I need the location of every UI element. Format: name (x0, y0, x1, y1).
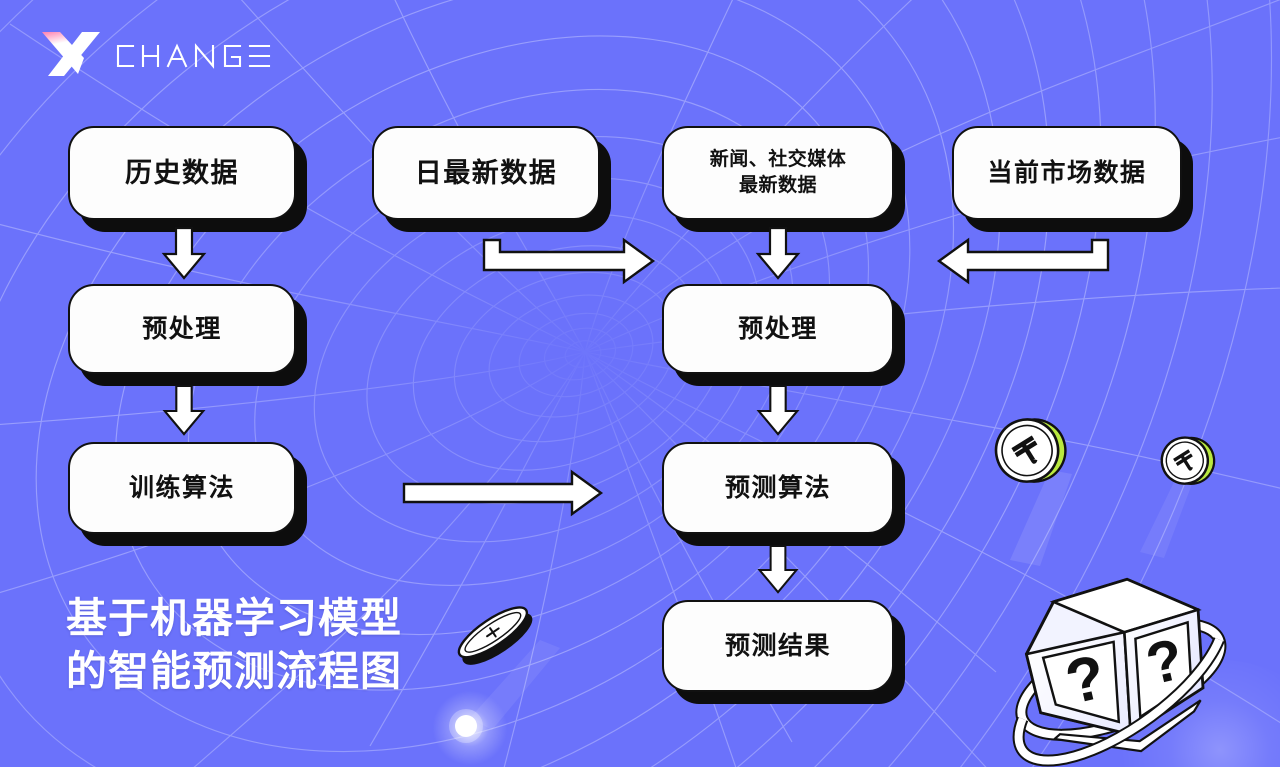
node-train-algorithm[interactable]: 训练算法 (68, 442, 296, 534)
arrow-preprocess-right-to-predict-algorithm (756, 386, 800, 436)
mystery-cube-decoration: ? ? ? (988, 528, 1268, 767)
node-news-social-latest-data[interactable]: 新闻、社交媒体 最新数据 (662, 126, 894, 220)
arrow-news-to-preprocess (756, 228, 800, 280)
arrow-preprocess-to-train (162, 386, 206, 436)
light-dot-glow (432, 690, 508, 766)
flowchart-poster: XCHANGE 历史数据 预处理 训练算法 日最新数据 新闻、社交媒体 最新数据… (0, 0, 1280, 767)
arrow-historical-to-preprocess (162, 228, 206, 280)
page-title: 基于机器学习模型 的智能预测流程图 (66, 592, 486, 699)
node-preprocess-left[interactable]: 预处理 (68, 284, 296, 374)
tether-coin-large-decoration: ₮ (984, 404, 1074, 496)
tether-coin-small-decoration (1152, 426, 1222, 496)
node-current-market-data[interactable]: 当前市场数据 (952, 126, 1182, 220)
node-predict-result[interactable]: 预测结果 (662, 600, 894, 692)
corner-glow (1110, 660, 1280, 767)
svg-text:?: ? (1060, 642, 1112, 718)
arrow-daily-data-elbow-right (484, 232, 656, 280)
node-historical-data[interactable]: 历史数据 (68, 126, 296, 220)
xchange-logo-icon (38, 26, 278, 82)
svg-text:?: ? (1140, 626, 1189, 697)
node-predict-algorithm[interactable]: 预测算法 (662, 442, 894, 534)
arrow-predict-algorithm-to-result (756, 546, 800, 594)
arrow-train-to-predict-algorithm (404, 472, 604, 516)
light-dot-decoration (446, 706, 486, 746)
arrow-market-data-elbow-left (912, 232, 1108, 280)
node-preprocess-right[interactable]: 预处理 (662, 284, 894, 374)
news-social-line-1: 新闻、社交媒体 (710, 148, 847, 172)
brand-logo[interactable]: XCHANGE (38, 26, 278, 82)
node-daily-latest-data[interactable]: 日最新数据 (372, 126, 600, 220)
news-social-line-2: 最新数据 (739, 174, 817, 198)
